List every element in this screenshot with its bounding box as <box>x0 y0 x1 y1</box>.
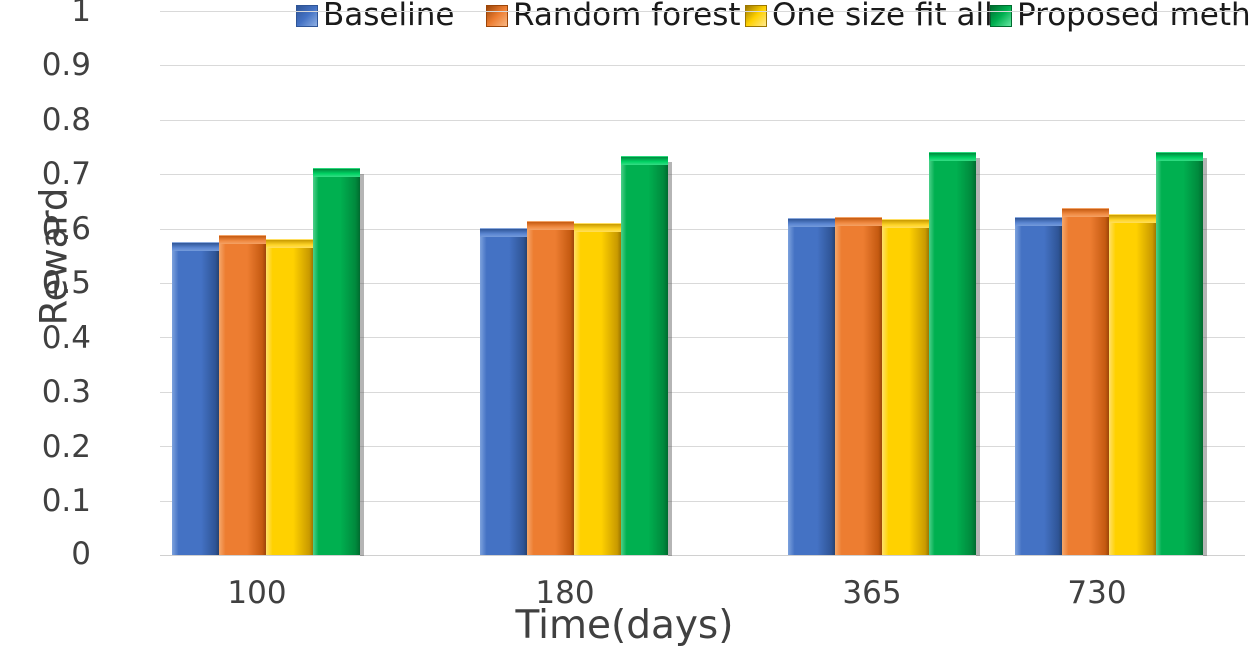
bar-body <box>266 248 313 555</box>
bar-shadow <box>668 162 672 556</box>
y-tick-label-0: 0 <box>71 539 91 570</box>
bar-body <box>480 237 527 555</box>
bar-one-size-fit-all-730 <box>1109 214 1156 555</box>
bar-body <box>929 161 976 555</box>
bar-one-size-fit-all-365 <box>882 219 929 555</box>
y-tick-label-0.6: 0.6 <box>42 214 91 245</box>
bar-body <box>882 228 929 555</box>
gridline-1 <box>160 11 1245 12</box>
gridline-0 <box>160 555 1245 556</box>
bar-proposed-method-730 <box>1156 152 1203 555</box>
bar-body <box>835 226 882 555</box>
bar-body <box>1156 161 1203 555</box>
bar-baseline-180 <box>480 228 527 555</box>
bar-body <box>788 227 835 555</box>
bar-body <box>527 230 574 555</box>
y-tick-label-1: 1 <box>71 0 91 27</box>
bar-body <box>219 244 266 555</box>
bar-body <box>1109 223 1156 555</box>
bar-baseline-730 <box>1015 217 1062 555</box>
bar-proposed-method-100 <box>313 168 360 555</box>
bar-shadow <box>1203 158 1207 556</box>
y-tick-label-0.1: 0.1 <box>42 486 91 517</box>
bar-body <box>172 251 219 555</box>
bar-chart: Baseline Random forest One size fit all … <box>0 0 1249 657</box>
bar-shadow <box>360 174 364 556</box>
bar-body <box>574 232 621 555</box>
gridline-0.9 <box>160 65 1245 66</box>
bar-body <box>1015 226 1062 555</box>
bar-body <box>621 165 668 555</box>
plot-area <box>160 11 1245 555</box>
y-tick-label-0.4: 0.4 <box>42 323 91 354</box>
y-tick-label-0.3: 0.3 <box>42 377 91 408</box>
bar-one-size-fit-all-100 <box>266 239 313 555</box>
y-tick-label-0.2: 0.2 <box>42 432 91 463</box>
bar-proposed-method-180 <box>621 156 668 555</box>
bar-random-forest-100 <box>219 235 266 555</box>
bar-one-size-fit-all-180 <box>574 223 621 555</box>
y-tick-label-0.7: 0.7 <box>42 159 91 190</box>
bar-body <box>313 177 360 555</box>
y-tick-label-0.8: 0.8 <box>42 105 91 136</box>
bar-body <box>1062 217 1109 555</box>
y-axis-title: Reward <box>36 177 73 337</box>
bar-random-forest-730 <box>1062 208 1109 555</box>
bar-shadow <box>976 158 980 556</box>
y-tick-label-0.5: 0.5 <box>42 268 91 299</box>
bar-proposed-method-365 <box>929 152 976 555</box>
y-tick-label-0.9: 0.9 <box>42 50 91 81</box>
gridline-0.8 <box>160 120 1245 121</box>
x-axis-title: Time(days) <box>0 605 1249 647</box>
bar-random-forest-365 <box>835 217 882 555</box>
bar-baseline-365 <box>788 218 835 555</box>
bar-random-forest-180 <box>527 221 574 555</box>
bar-baseline-100 <box>172 242 219 555</box>
